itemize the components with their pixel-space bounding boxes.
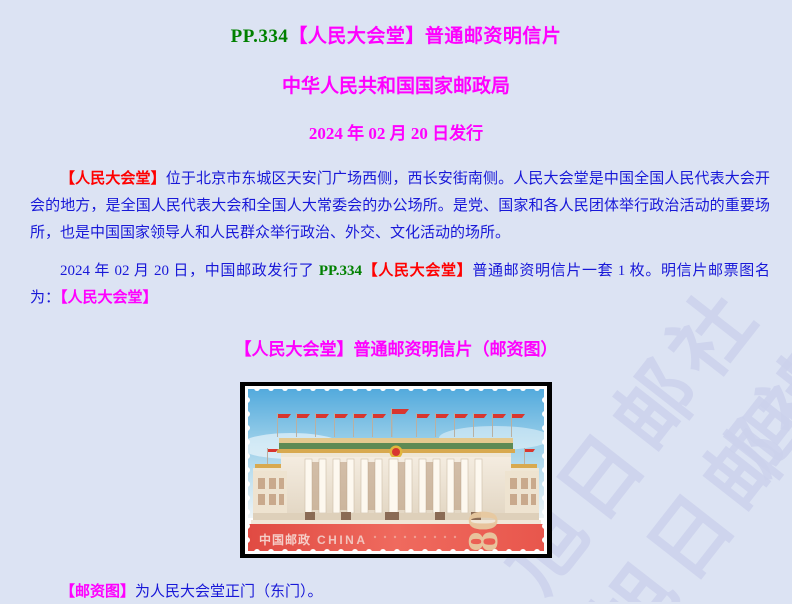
catalog-code: PP.334 — [231, 26, 289, 47]
svg-text:CHINA: CHINA — [317, 533, 368, 547]
paragraph-issue: 2024 年 02 月 20 日，中国邮政发行了 PP.334【人民大会堂】普通… — [30, 247, 770, 312]
caption-label: 【邮资图】 — [60, 584, 135, 600]
body-copy: 【人民大会堂】位于北京市东城区天安门广场西侧，西长安街南侧。人民大会堂是中国全国… — [0, 142, 792, 312]
stamp-name: 【人民大会堂】 — [60, 290, 158, 306]
document-page: PP.334【人民大会堂】普通邮资明信片 中华人民共和国国家邮政局 2024 年… — [0, 0, 792, 602]
paragraph-introduction: 【人民大会堂】位于北京市东城区天安门广场西侧，西长安街南侧。人民大会堂是中国全国… — [30, 142, 770, 247]
svg-text:中国邮政: 中国邮政 — [259, 532, 311, 547]
series-name: 【人民大会堂】 — [362, 263, 472, 279]
stamp-figure: 中国邮政 CHINA 80 — [0, 358, 792, 563]
svg-text:80: 80 — [461, 510, 507, 552]
stamp-artwork: 中国邮政 CHINA 80 — [245, 386, 547, 554]
great-hall-illustration: 中国邮政 CHINA 80 — [245, 386, 547, 554]
catalog-code: PP.334 — [319, 263, 362, 279]
figure-heading: 【人民大会堂】普通邮资明信片（邮资图） — [0, 312, 792, 358]
caption-text: 为人民大会堂正门（东门）。 — [135, 584, 323, 600]
stamp-frame: 中国邮政 CHINA 80 — [240, 382, 552, 558]
issue-date: 2024 年 02 月 20 日发行 — [0, 96, 792, 142]
figure-caption: 【邮资图】为人民大会堂正门（东门）。 — [0, 563, 792, 604]
issue-date-prefix: 2024 年 02 月 20 日，中国邮政发行了 — [60, 263, 319, 279]
lead-label: 【人民大会堂】 — [60, 171, 166, 187]
page-title: PP.334【人民大会堂】普通邮资明信片 — [0, 0, 792, 46]
page-title-text: 【人民大会堂】普通邮资明信片 — [288, 26, 561, 47]
issuer-name: 中华人民共和国国家邮政局 — [0, 46, 792, 96]
title-block: PP.334【人民大会堂】普通邮资明信片 中华人民共和国国家邮政局 2024 年… — [0, 0, 792, 142]
